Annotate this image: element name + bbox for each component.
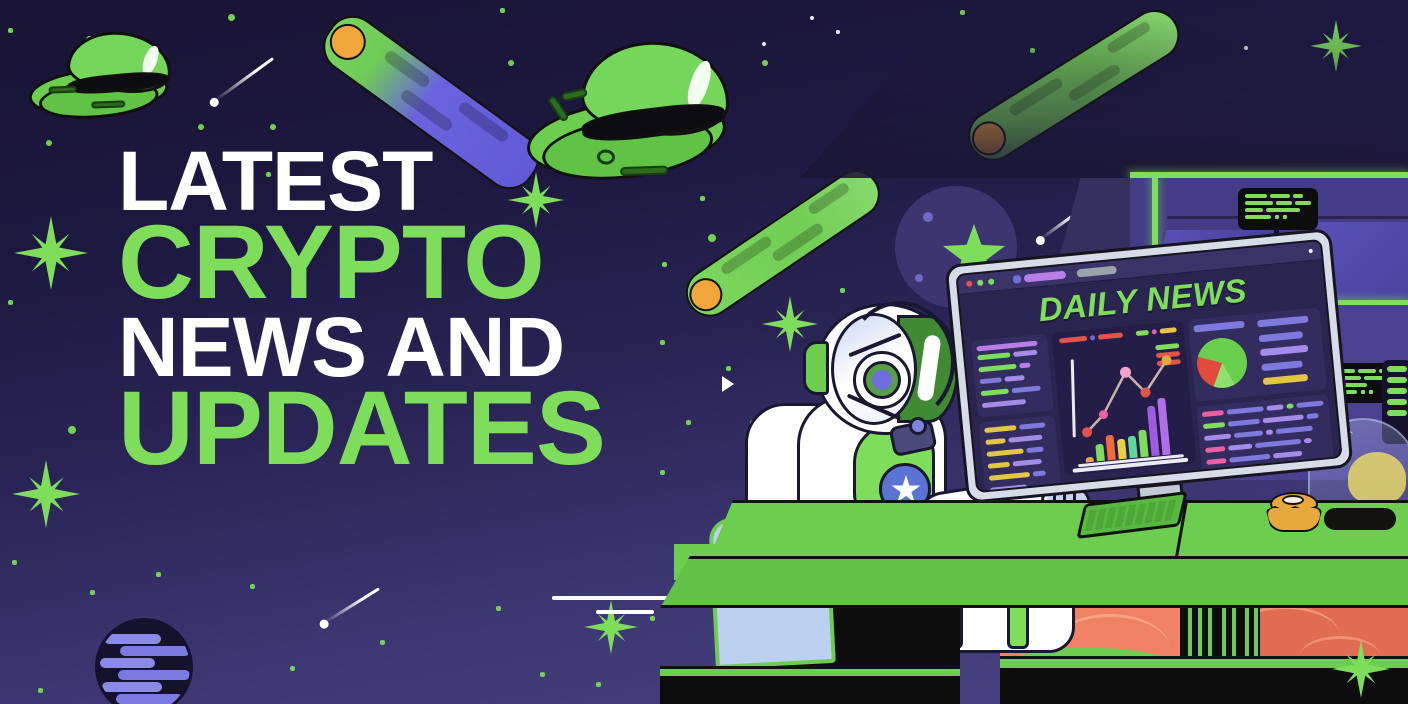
monitor[interactable]: DAILY NEWS xyxy=(944,228,1353,504)
side-terminal-display xyxy=(1238,188,1318,230)
pie-panel xyxy=(1188,307,1327,401)
triangle-glyph xyxy=(722,376,734,392)
pie-chart xyxy=(1195,336,1250,391)
shooting-star-icon xyxy=(214,57,274,102)
browser-dot-red xyxy=(966,281,973,288)
sparkle-star-icon xyxy=(584,600,638,654)
crypto-news-banner: DAILY NEWS xyxy=(0,0,1408,704)
dashboard-right-column xyxy=(1188,307,1333,462)
coffee-cup xyxy=(1266,492,1322,534)
left-panel-top xyxy=(971,334,1054,418)
headline-line-2: CRYPTO xyxy=(118,214,605,312)
sparkle-star-icon xyxy=(14,216,88,290)
helmet-side-tab xyxy=(803,341,829,395)
browser-dot-green xyxy=(977,280,984,287)
chair-base xyxy=(660,666,960,676)
speed-line xyxy=(552,596,670,600)
planet-striped xyxy=(95,618,193,704)
browser-menu-dot[interactable] xyxy=(1309,249,1313,253)
monitor-screen: DAILY NEWS xyxy=(955,239,1342,493)
desk-tray-slot xyxy=(1324,508,1396,530)
left-panel-bottom xyxy=(979,415,1062,493)
sparkle-star-icon xyxy=(1332,640,1390,698)
dashboard xyxy=(971,307,1333,483)
chart-card xyxy=(1051,321,1196,476)
browser-address-bar[interactable] xyxy=(1076,266,1117,278)
browser-tab-accent[interactable] xyxy=(1013,275,1022,284)
browser-dot-green xyxy=(988,278,995,285)
speed-line xyxy=(596,610,654,614)
page-title: LATEST CRYPTO NEWS AND UPDATES xyxy=(118,142,605,478)
sparkle-star-icon xyxy=(12,460,80,528)
dashboard-left-column xyxy=(971,334,1060,484)
shooting-star-icon xyxy=(324,587,380,623)
headline-line-4: UPDATES xyxy=(118,380,605,478)
desk-front-edge xyxy=(660,556,1408,608)
bar-chart xyxy=(1080,391,1189,463)
ufo-small xyxy=(25,23,174,133)
browser-tab[interactable] xyxy=(1024,271,1067,283)
